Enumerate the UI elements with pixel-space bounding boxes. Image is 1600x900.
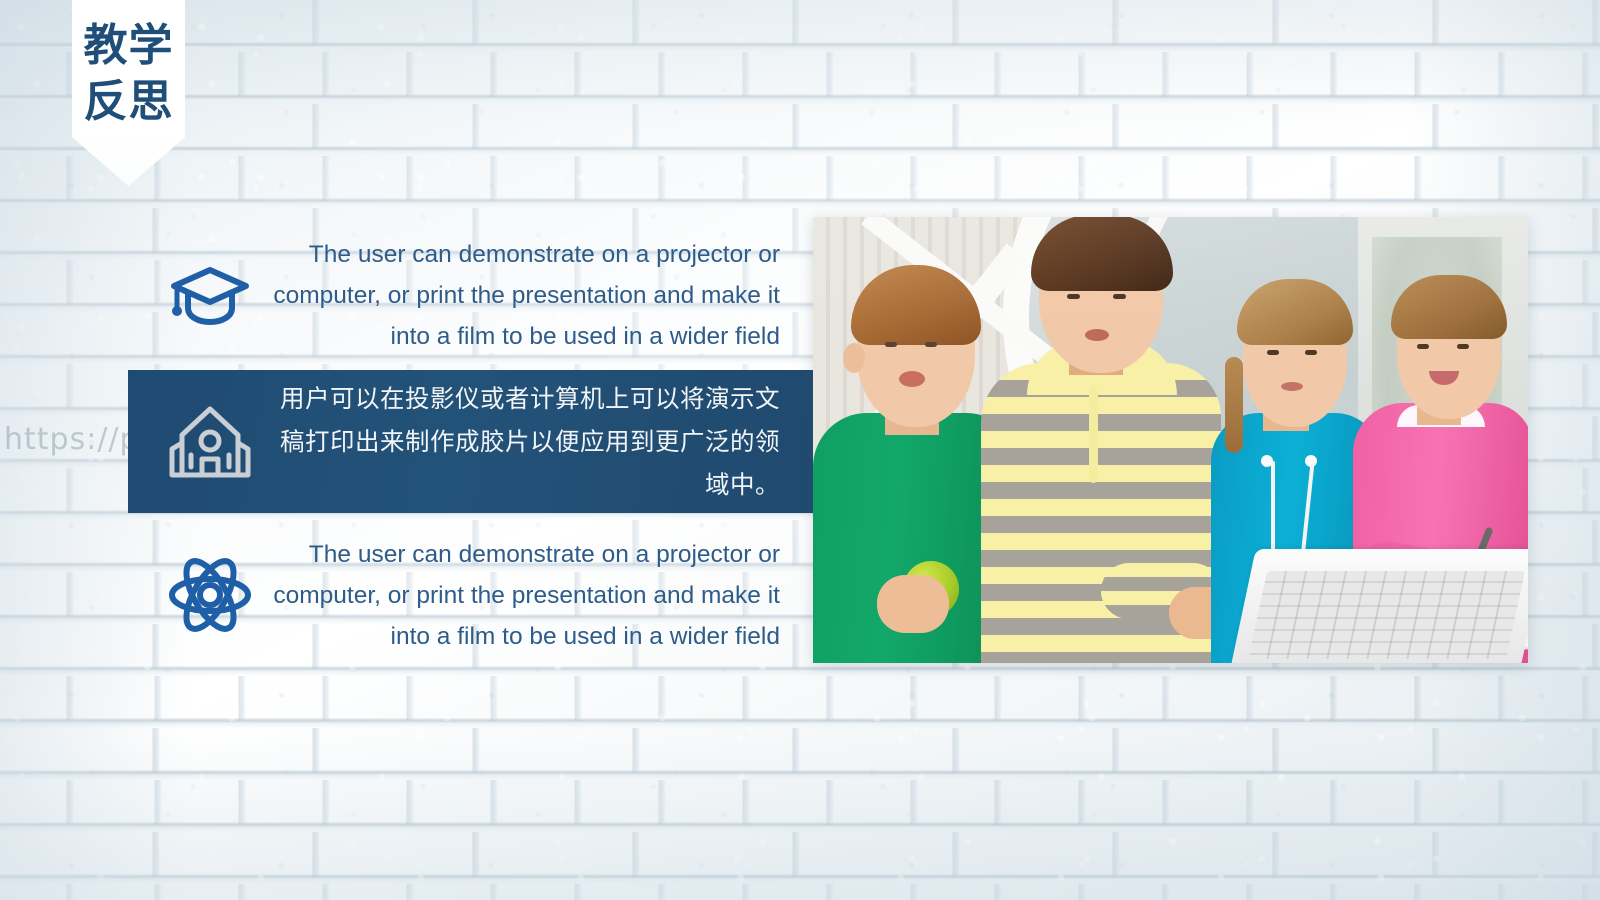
ribbon-title-line-2: 反思 <box>84 74 174 130</box>
classroom-photo <box>813 217 1528 663</box>
content-block-2-highlight[interactable]: 用户可以在投影仪或者计算机上可以将演示文稿打印出来制作成胶片以便应用到更广泛的领… <box>128 370 830 513</box>
white-laptop <box>1230 549 1528 663</box>
content-block-1[interactable]: The user can demonstrate on a projector … <box>160 230 800 360</box>
content-block-1-text: The user can demonstrate on a projector … <box>260 234 780 357</box>
child-striped-hoodie <box>981 217 1231 663</box>
content-block-2-text: 用户可以在投影仪或者计算机上可以将演示文稿打印出来制作成胶片以便应用到更广泛的领… <box>260 377 780 506</box>
content-block-3[interactable]: The user can demonstrate on a projector … <box>160 530 800 660</box>
content-block-3-text: The user can demonstrate on a projector … <box>260 534 780 657</box>
ribbon-title-line-1: 教学 <box>84 18 174 74</box>
slide: https://p 教学 反思 The user can demonstrate… <box>0 0 1600 900</box>
school-building-icon <box>160 403 260 481</box>
atom-icon <box>160 555 260 635</box>
watermark-text: https://p <box>4 422 140 457</box>
graduation-cap-icon <box>160 262 260 328</box>
